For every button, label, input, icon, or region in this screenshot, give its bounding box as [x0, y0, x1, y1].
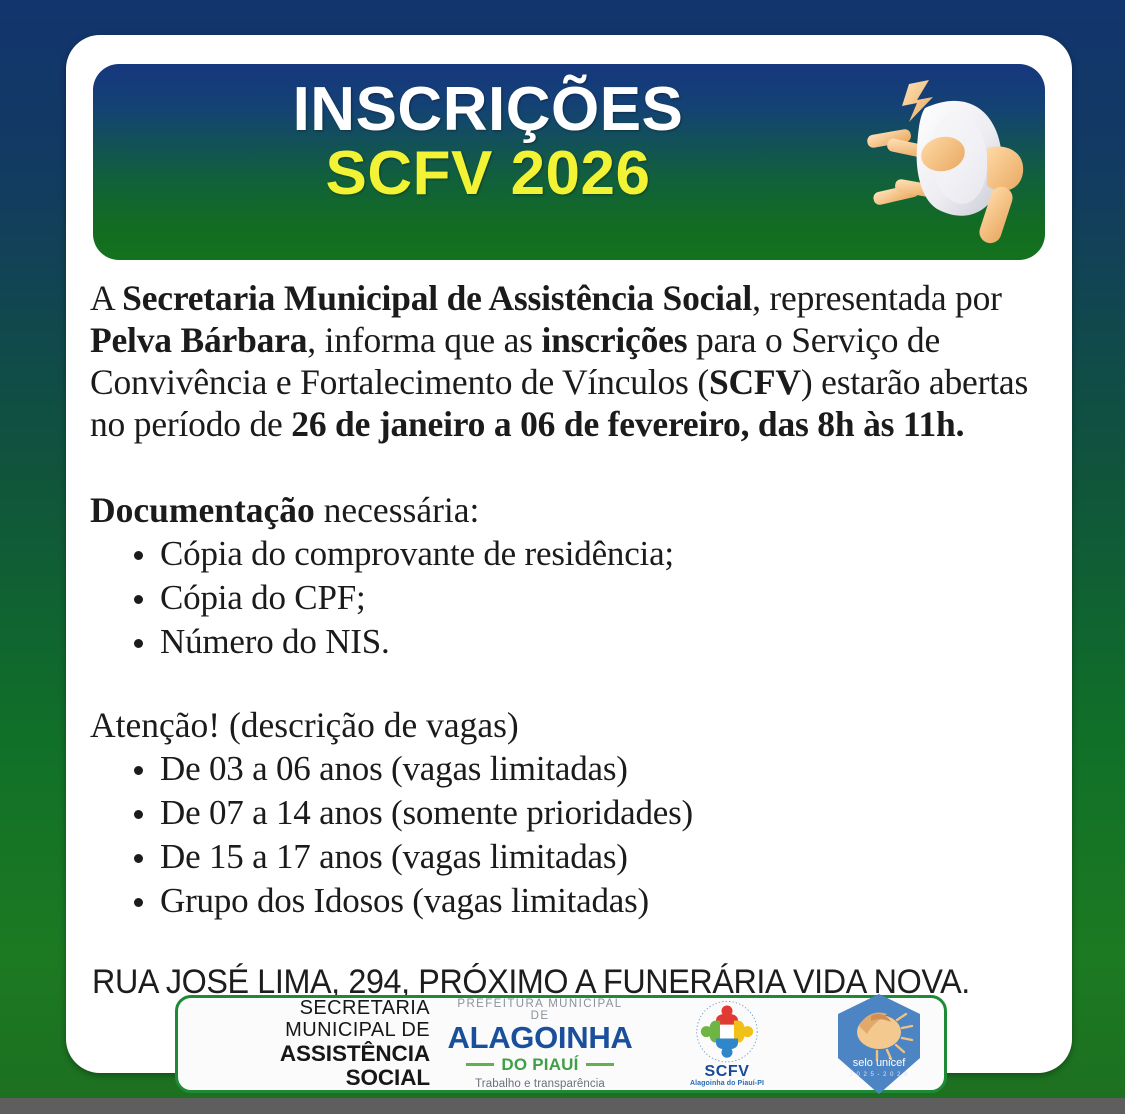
- unicef-label: selo unicef: [852, 1057, 906, 1069]
- intro-b1: Secretaria Municipal de Assistência Soci…: [122, 278, 752, 318]
- intro-b2: Pelva Bárbara: [90, 320, 307, 360]
- secretaria-line-2: MUNICIPAL DE: [248, 1020, 430, 1041]
- prefeitura-slogan: Trabalho e transparência: [446, 1078, 634, 1090]
- documentacao-list: Cópia do comprovante de residência; Cópi…: [90, 532, 1050, 664]
- unicef-hexagon-icon: selo unicef 2 0 2 5 - 2 0 2 8: [832, 992, 926, 1096]
- secretaria-line-1: SECRETARIA: [248, 998, 430, 1019]
- intro-t1: A: [90, 278, 122, 318]
- scfv-people-circle-icon: [692, 1000, 762, 1066]
- intro-b3: inscrições: [541, 320, 687, 360]
- scfv-logo: SCFV Alagoinha do Piauí-PI: [668, 1000, 786, 1088]
- poster-card: INSCRIÇÕES SCFV 2026: [66, 35, 1072, 1073]
- list-item: Número do NIS.: [130, 620, 1050, 664]
- documentacao-heading: Documentação necessária:: [90, 489, 1050, 532]
- intro-t2: , representada por: [752, 278, 1002, 318]
- prefeitura-state-name: DO PIAUÍ: [501, 1055, 578, 1075]
- poster-body: A Secretaria Municipal de Assistência So…: [90, 277, 1050, 923]
- documentacao-heading-rest: necessária:: [315, 490, 480, 530]
- atencao-list: De 03 a 06 anos (vagas limitadas) De 07 …: [90, 747, 1050, 923]
- list-item: Cópia do CPF;: [130, 576, 1050, 620]
- atencao-heading: Atenção! (descrição de vagas): [90, 704, 1050, 747]
- unicef-seal: selo unicef 2 0 2 5 - 2 0 2 8: [826, 992, 931, 1096]
- list-item: De 03 a 06 anos (vagas limitadas): [130, 747, 1050, 791]
- intro-t3: , informa que as: [307, 320, 541, 360]
- list-item: Grupo dos Idosos (vagas limitadas): [130, 879, 1050, 923]
- prefeitura-state-row: DO PIAUÍ: [446, 1055, 634, 1075]
- list-item: Cópia do comprovante de residência;: [130, 532, 1050, 576]
- prefeitura-logo: PREFEITURA MUNICIPAL DE ALAGOINHA DO PIA…: [446, 998, 634, 1090]
- rule-left-icon: [466, 1063, 494, 1066]
- rule-right-icon: [586, 1063, 614, 1066]
- scfv-name: SCFV: [668, 1064, 786, 1080]
- intro-b5: 26 de janeiro a 06 de fevereiro, das 8h …: [291, 404, 964, 444]
- footer-logo-bar: SECRETARIA MUNICIPAL DE ASSISTÊNCIA SOCI…: [175, 995, 947, 1093]
- secretaria-wordmark: SECRETARIA MUNICIPAL DE ASSISTÊNCIA SOCI…: [248, 998, 430, 1089]
- prefeitura-line-1: PREFEITURA MUNICIPAL DE: [446, 998, 634, 1022]
- secretaria-line-3: ASSISTÊNCIA SOCIAL: [248, 1042, 430, 1090]
- header-title-group: INSCRIÇÕES SCFV 2026: [93, 78, 883, 208]
- page-title-secondary: SCFV 2026: [93, 141, 883, 208]
- unicef-years: 2 0 2 5 - 2 0 2 8: [849, 1072, 908, 1078]
- system-bottom-bar: [0, 1098, 1125, 1114]
- page-title-primary: INSCRIÇÕES: [93, 78, 883, 141]
- intro-b4: SCFV: [709, 362, 801, 402]
- scfv-subtitle: Alagoinha do Piauí-PI: [668, 1080, 786, 1088]
- prefeitura-city-name: ALAGOINHA: [446, 1022, 634, 1054]
- list-item: De 07 a 14 anos (somente prioridades): [130, 791, 1050, 835]
- spacer: [90, 664, 1050, 704]
- megaphone-icon: [847, 70, 1037, 255]
- intro-paragraph: A Secretaria Municipal de Assistência So…: [90, 277, 1050, 445]
- header-banner: INSCRIÇÕES SCFV 2026: [93, 64, 1045, 260]
- list-item: De 15 a 17 anos (vagas limitadas): [130, 835, 1050, 879]
- documentacao-heading-bold: Documentação: [90, 490, 315, 530]
- spacer: [90, 445, 1050, 489]
